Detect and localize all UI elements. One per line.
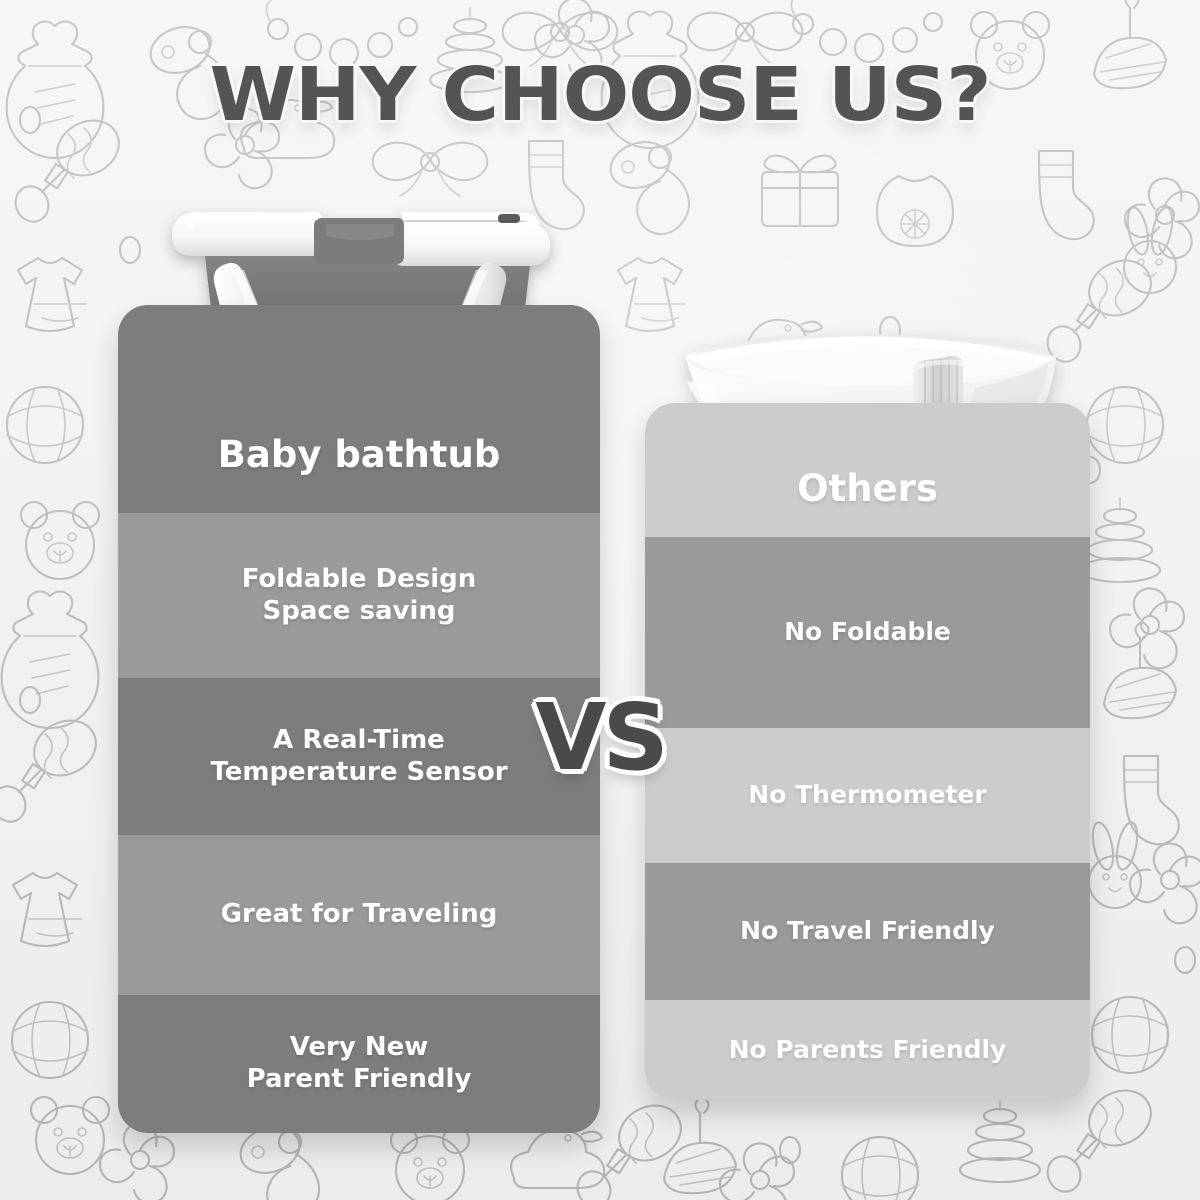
feature-row-no-foldable: No Foldable — [645, 537, 1090, 728]
feature-row-no-thermometer: No Thermometer — [645, 728, 1090, 863]
feature-line-1: A Real-Time — [273, 725, 445, 755]
feature-row-foldable-design: Foldable Design Space saving — [118, 513, 600, 678]
feature-row-parent-friendly: Very New Parent Friendly — [118, 995, 600, 1133]
page-title: WHY CHOOSE US? — [0, 52, 1200, 138]
feature-line-2: Temperature Sensor — [210, 757, 507, 787]
card-header-label: Others — [797, 466, 938, 511]
card-header-label: Baby bathtub — [218, 432, 501, 477]
feature-row-no-parents-friendly: No Parents Friendly — [645, 1000, 1090, 1100]
feature-line-1: No Thermometer — [748, 780, 986, 811]
feature-line-2: Parent Friendly — [247, 1064, 472, 1094]
feature-line-1: No Parents Friendly — [729, 1035, 1007, 1066]
comparison-card-baby-bathtub: Baby bathtub Foldable Design Space savin… — [118, 305, 600, 1133]
card-header-others: Others — [645, 403, 1090, 537]
feature-row-great-for-traveling: Great for Traveling — [118, 835, 600, 995]
feature-line-1: Foldable Design — [242, 564, 477, 594]
comparison-card-others: Others No Foldable No Thermometer No Tra… — [645, 403, 1090, 1100]
card-header-baby-bathtub: Baby bathtub — [118, 305, 600, 513]
feature-line-1: No Foldable — [784, 617, 951, 648]
feature-row-no-travel-friendly: No Travel Friendly — [645, 863, 1090, 1000]
feature-line-1: Great for Traveling — [221, 899, 498, 931]
feature-line-1: No Travel Friendly — [740, 916, 995, 947]
feature-line-1: Very New — [290, 1032, 429, 1062]
feature-row-temperature-sensor: A Real-Time Temperature Sensor — [118, 678, 600, 835]
infographic-canvas: WHY CHOOSE US? — [0, 0, 1200, 1200]
feature-line-2: Space saving — [263, 596, 456, 626]
